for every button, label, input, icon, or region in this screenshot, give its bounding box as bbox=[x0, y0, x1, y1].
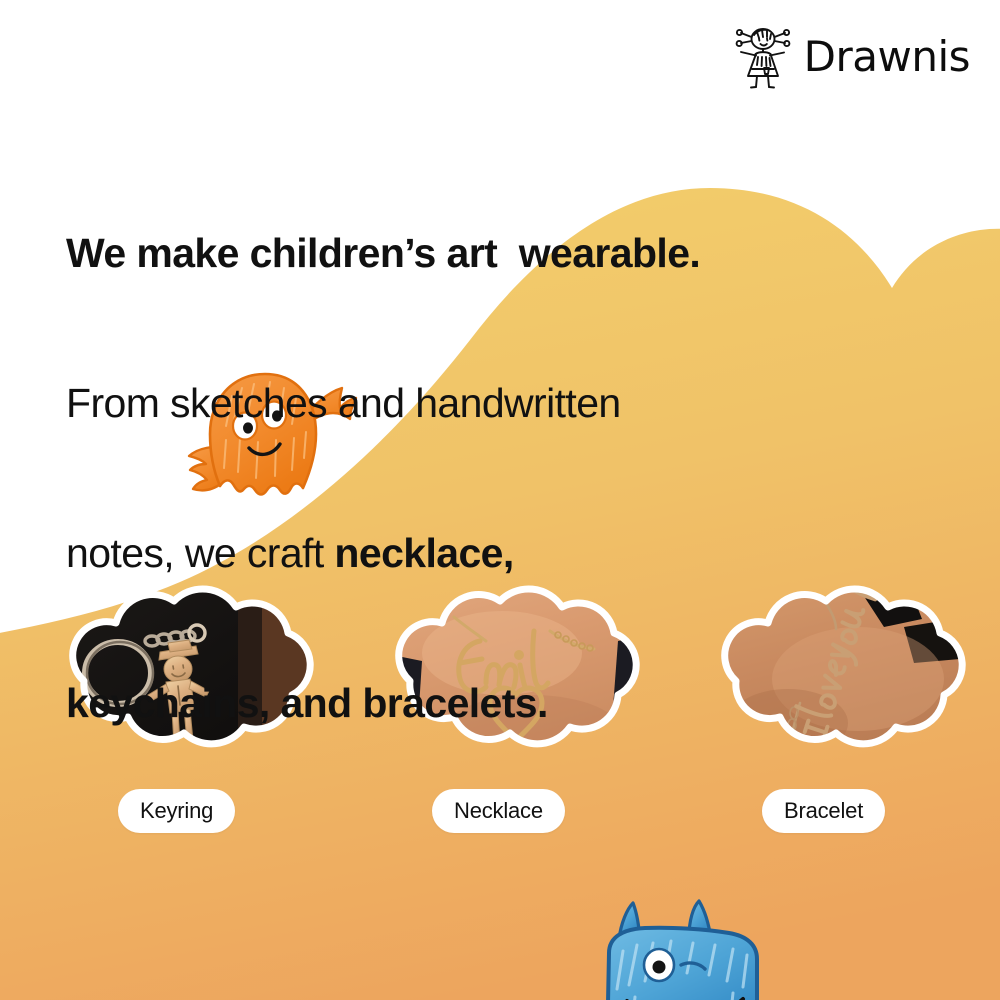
stick-figure-girl-icon bbox=[732, 24, 794, 90]
blue-monster-doodle bbox=[565, 893, 810, 1000]
headline-line-1: We make children’s art wearable. bbox=[66, 228, 786, 278]
product-label-row: Keyring Necklace Bracelet bbox=[0, 789, 1000, 837]
brand-name: Drawnis bbox=[804, 36, 970, 78]
headline-line-2: From sketches and handwritten bbox=[66, 378, 786, 428]
headline-line-3-bold: necklace, bbox=[334, 530, 513, 576]
promo-canvas: Drawnis We make children’s art wearable.… bbox=[0, 0, 1000, 1000]
headline-line-3: notes, we craft necklace, bbox=[66, 528, 786, 578]
brand-logo[interactable]: Drawnis bbox=[732, 24, 970, 90]
headline-line-4: keychains, and bracelets. bbox=[66, 678, 786, 728]
page-title: We make children’s art wearable. From sk… bbox=[66, 128, 786, 828]
product-label-bracelet[interactable]: Bracelet bbox=[762, 789, 885, 833]
product-label-necklace[interactable]: Necklace bbox=[432, 789, 565, 833]
headline-line-3-regular: notes, we craft bbox=[66, 530, 334, 576]
product-label-keyring[interactable]: Keyring bbox=[118, 789, 235, 833]
